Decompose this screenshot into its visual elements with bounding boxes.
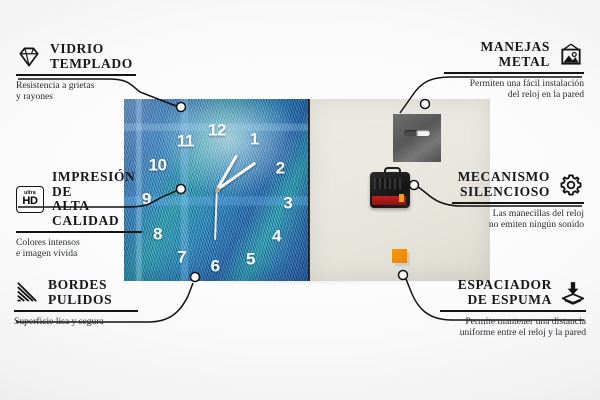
feature-desc-line1: Colores intensos xyxy=(16,237,142,249)
feature-title-line2: ALTA CALIDAD xyxy=(52,199,142,228)
feature-desc-line2: del reloj en la pared xyxy=(444,89,584,101)
infographic-canvas: 12 1 2 3 4 5 6 7 8 9 10 11 xyxy=(0,0,600,400)
feature-title-line1: MECANISMO xyxy=(458,170,550,185)
feature-title-line2: SILENCIOSO xyxy=(458,185,550,200)
feature-divider xyxy=(14,310,138,312)
feature-title-line2: METAL xyxy=(481,55,550,70)
feature-manejas-metal[interactable]: MANEJAS METAL Permiten una fácil instala… xyxy=(444,40,584,101)
feature-desc-line2: uniforme entre el reloj y la pared xyxy=(440,327,586,339)
polished-edges-icon xyxy=(14,280,40,306)
feature-divider xyxy=(16,231,142,233)
feature-title-line2: DE ESPUMA xyxy=(458,293,552,308)
clock-numeral-4: 4 xyxy=(272,227,281,244)
feature-title-line2: PULIDOS xyxy=(48,293,112,308)
feature-title-line1: VIDRIO xyxy=(50,42,133,57)
battery xyxy=(372,196,406,205)
ultra-hd-icon-large-text: HD xyxy=(22,196,37,207)
clock-numeral-9: 9 xyxy=(142,191,151,208)
feature-title-line1: ESPACIADOR xyxy=(458,278,552,293)
gear-icon xyxy=(558,172,584,198)
feature-desc-line1: Resistencia a grietas xyxy=(16,80,136,92)
clock-numeral-8: 8 xyxy=(153,225,162,242)
feature-title-line1: IMPRESIÓN DE xyxy=(52,170,142,199)
foam-spacer-pad xyxy=(392,249,407,263)
clock-front-face: 12 1 2 3 4 5 6 7 8 9 10 11 xyxy=(124,99,310,281)
feature-desc-line1: Las manecillas del reloj xyxy=(452,208,584,220)
feature-title-line2: TEMPLADO xyxy=(50,57,133,72)
feature-divider xyxy=(16,74,136,76)
feature-desc-line2: no emiten ningún sonido xyxy=(452,219,584,231)
clock-numeral-6: 6 xyxy=(211,258,220,275)
feature-bordes-pulidos[interactable]: BORDES PULIDOS Superficie lisa y segura xyxy=(14,278,138,327)
clock-numeral-2: 2 xyxy=(276,160,285,177)
feature-desc-line1: Permiten una fácil instalación xyxy=(444,78,584,90)
feature-impresion-alta-calidad[interactable]: ultra HD IMPRESIÓN DE ALTA CALIDAD Color… xyxy=(16,170,142,260)
foam-spacer-icon xyxy=(560,280,586,306)
feature-espaciador-espuma[interactable]: ESPACIADOR DE ESPUMA Permite mantener un… xyxy=(440,278,586,339)
clock-center-pin xyxy=(215,188,220,193)
feature-title-line1: MANEJAS xyxy=(481,40,550,55)
diamond-icon xyxy=(16,44,42,70)
clock-numeral-7: 7 xyxy=(177,249,186,266)
clock-numeral-10: 10 xyxy=(149,156,167,173)
hanger-slot xyxy=(404,130,430,136)
feature-divider xyxy=(452,202,584,204)
feature-divider xyxy=(440,310,586,312)
feature-desc-line1: Permite mantener una distancia xyxy=(440,316,586,328)
feature-title-line1: BORDES xyxy=(48,278,112,293)
metal-hanger-plate xyxy=(393,114,441,162)
ultra-hd-icon: ultra HD xyxy=(16,186,44,213)
feature-desc-line2: e imagen vívida xyxy=(16,248,142,260)
clock-dial: 12 1 2 3 4 5 6 7 8 9 10 11 xyxy=(124,99,310,281)
clock-second-hand xyxy=(214,190,217,240)
clock-numeral-3: 3 xyxy=(283,194,292,211)
clock-numeral-11: 11 xyxy=(177,132,194,149)
feature-desc-line1: Superficie lisa y segura xyxy=(14,316,138,328)
clock-numeral-5: 5 xyxy=(246,251,255,268)
feature-mecanismo-silencioso[interactable]: MECANISMO SILENCIOSO Las manecillas del … xyxy=(452,170,584,231)
clock-numeral-1: 1 xyxy=(250,131,259,148)
feature-divider xyxy=(444,72,584,74)
clock-numeral-12: 12 xyxy=(208,121,226,138)
feature-vidrio-templado[interactable]: VIDRIO TEMPLADO Resistencia a grietas y … xyxy=(16,42,136,103)
feature-desc-line2: y rayones xyxy=(16,91,136,103)
mechanism-detail xyxy=(374,178,402,189)
hanging-picture-icon xyxy=(558,42,584,68)
